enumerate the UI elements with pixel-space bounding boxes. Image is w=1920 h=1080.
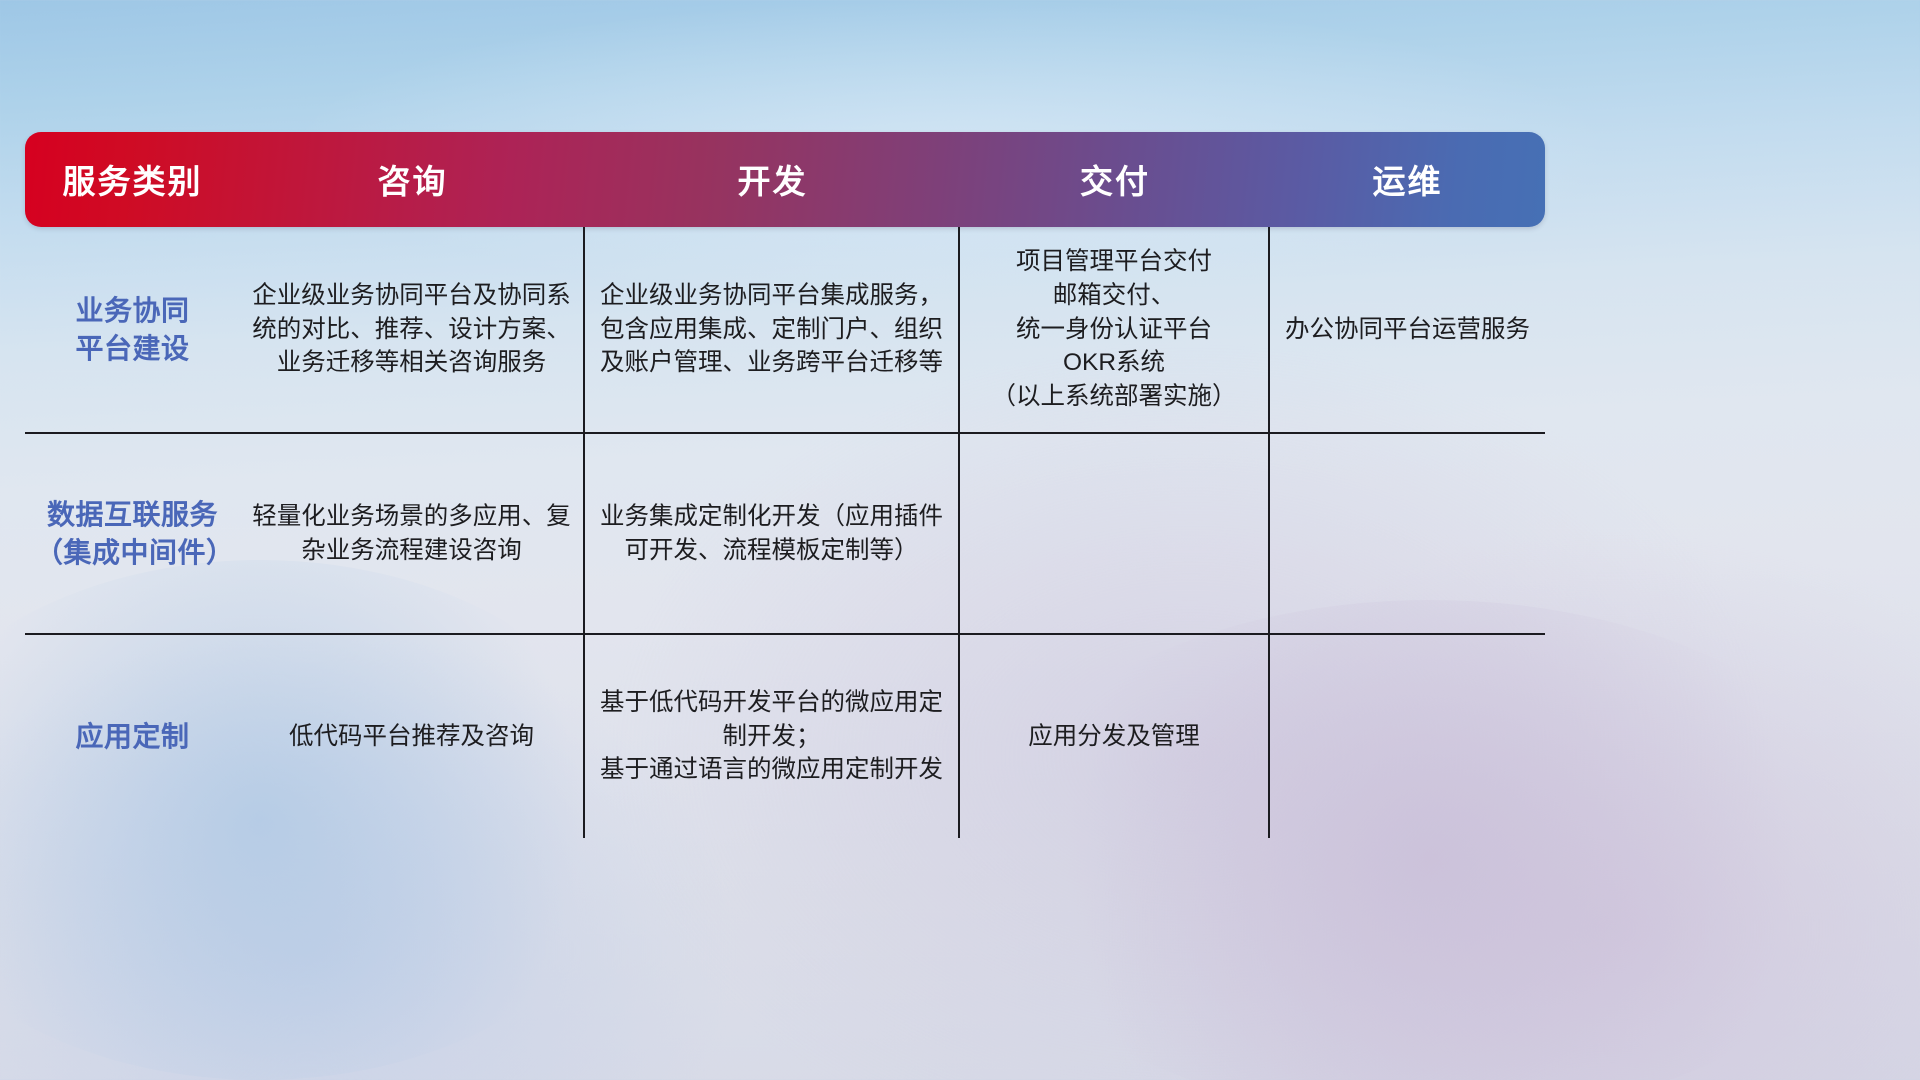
column-header-category-label: 服务类别 [63,165,203,198]
column-header-operations-label: 运维 [1373,165,1443,198]
row-development-cell: 基于低代码开发平台的微应用定 制开发； 基于通过语言的微应用定制开发 [585,635,960,838]
row-delivery-text: 应用分发及管理 [1028,720,1200,754]
row-consulting-cell: 轻量化业务场景的多应用、复 杂业务流程建设咨询 [240,434,585,633]
column-header-category: 服务类别 [25,132,240,227]
row-delivery-text: 项目管理平台交付 邮箱交付、 统一身份认证平台 OKR系统 （以上系统部署实施） [992,245,1237,414]
row-category-label: 应用定制 [75,718,189,756]
row-category-cell: 数据互联服务 （集成中间件） [25,434,240,633]
column-header-operations: 运维 [1270,132,1545,227]
row-development-cell: 企业级业务协同平台集成服务， 包含应用集成、定制门户、组织 及账户管理、业务跨平… [585,227,960,432]
table-header-row: 服务类别 咨询 开发 交付 运维 [25,132,1545,227]
row-consulting-text: 企业级业务协同平台及协同系 统的对比、推荐、设计方案、 业务迁移等相关咨询服务 [252,279,571,380]
column-header-consulting-label: 咨询 [378,165,448,198]
row-development-text: 业务集成定制化开发（应用插件 可开发、流程模板定制等） [600,500,943,568]
column-header-delivery-label: 交付 [1080,165,1150,198]
row-development-text: 基于低代码开发平台的微应用定 制开发； 基于通过语言的微应用定制开发 [600,686,943,787]
row-consulting-text: 低代码平台推荐及咨询 [289,720,534,754]
slide-canvas: 服务类别 咨询 开发 交付 运维 业务协同 平台建设 企业级业务协同平台及协同 [0,0,1920,1080]
row-operations-text: 办公协同平台运营服务 [1285,313,1530,347]
table-row: 应用定制 低代码平台推荐及咨询 基于低代码开发平台的微应用定 制开发； 基于通过… [25,635,1545,838]
row-development-cell: 业务集成定制化开发（应用插件 可开发、流程模板定制等） [585,434,960,633]
column-header-consulting: 咨询 [240,132,585,227]
row-consulting-cell: 企业级业务协同平台及协同系 统的对比、推荐、设计方案、 业务迁移等相关咨询服务 [240,227,585,432]
row-category-cell: 应用定制 [25,635,240,838]
column-header-development: 开发 [585,132,960,227]
row-consulting-text: 轻量化业务场景的多应用、复 杂业务流程建设咨询 [252,500,571,568]
table-row: 数据互联服务 （集成中间件） 轻量化业务场景的多应用、复 杂业务流程建设咨询 业… [25,434,1545,635]
row-operations-cell [1270,635,1545,838]
row-development-text: 企业级业务协同平台集成服务， 包含应用集成、定制门户、组织 及账户管理、业务跨平… [600,279,943,380]
column-header-delivery: 交付 [960,132,1270,227]
row-delivery-cell [960,434,1270,633]
row-category-label: 业务协同 平台建设 [75,292,189,368]
service-matrix-table: 服务类别 咨询 开发 交付 运维 业务协同 平台建设 企业级业务协同平台及协同 [25,132,1545,838]
column-header-development-label: 开发 [738,165,808,198]
table-body: 业务协同 平台建设 企业级业务协同平台及协同系 统的对比、推荐、设计方案、 业务… [25,227,1545,838]
row-operations-cell: 办公协同平台运营服务 [1270,227,1545,432]
row-delivery-cell: 应用分发及管理 [960,635,1270,838]
row-operations-cell [1270,434,1545,633]
table-row: 业务协同 平台建设 企业级业务协同平台及协同系 统的对比、推荐、设计方案、 业务… [25,227,1545,434]
row-delivery-cell: 项目管理平台交付 邮箱交付、 统一身份认证平台 OKR系统 （以上系统部署实施） [960,227,1270,432]
row-consulting-cell: 低代码平台推荐及咨询 [240,635,585,838]
row-category-cell: 业务协同 平台建设 [25,227,240,432]
row-category-label: 数据互联服务 （集成中间件） [35,496,230,572]
